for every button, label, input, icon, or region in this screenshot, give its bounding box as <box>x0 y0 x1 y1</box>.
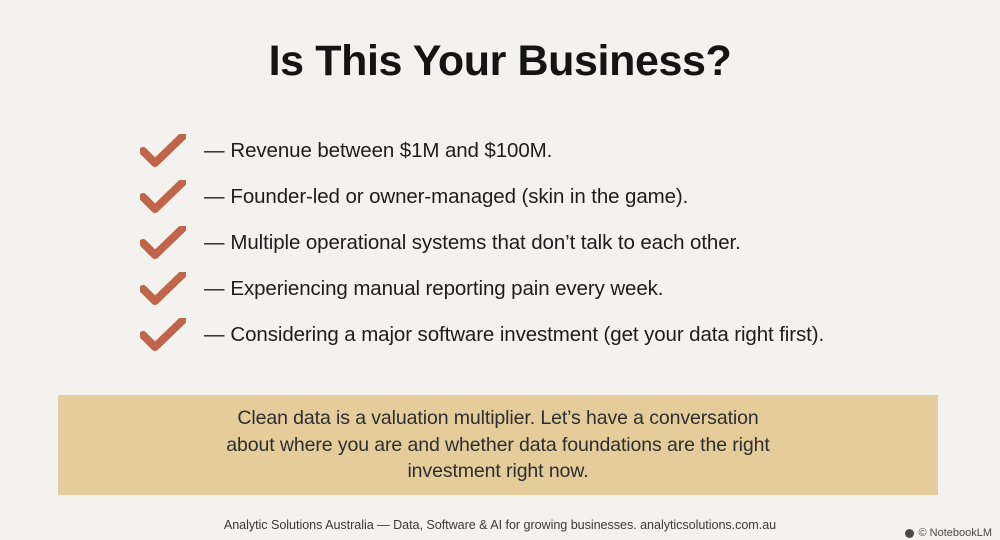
callout-line: investment right now. <box>407 460 588 482</box>
list-item-text: —Founder-led or owner-managed (skin in t… <box>204 185 688 209</box>
slide-canvas: Is This Your Business? —Revenue between … <box>0 0 1000 540</box>
list-item-label: Multiple operational systems that don’t … <box>230 231 740 254</box>
callout-line: Clean data is a valuation multiplier. Le… <box>237 407 758 429</box>
em-dash: — <box>204 277 224 300</box>
list-item-text: —Multiple operational systems that don’t… <box>204 231 741 255</box>
list-item-label: Experiencing manual reporting pain every… <box>230 277 663 300</box>
check-mark-icon <box>140 226 186 260</box>
check-mark-icon <box>140 134 186 168</box>
em-dash: — <box>204 231 224 254</box>
list-item: —Multiple operational systems that don’t… <box>140 220 960 266</box>
watermark-label: © NotebookLM <box>918 527 992 539</box>
check-mark-icon <box>140 272 186 306</box>
list-item-label: Founder-led or owner-managed (skin in th… <box>230 185 688 208</box>
em-dash: — <box>204 323 224 346</box>
list-item-text: —Revenue between $1M and $100M. <box>204 139 552 163</box>
watermark: © NotebookLM <box>905 527 992 539</box>
list-item: —Founder-led or owner-managed (skin in t… <box>140 174 960 220</box>
list-item-label: Considering a major software investment … <box>230 323 824 346</box>
footer-text: Analytic Solutions Australia — Data, Sof… <box>0 518 1000 532</box>
callout-band: Clean data is a valuation multiplier. Le… <box>58 395 938 495</box>
list-item-label: Revenue between $1M and $100M. <box>230 139 552 162</box>
list-item: —Experiencing manual reporting pain ever… <box>140 266 960 312</box>
checklist: —Revenue between $1M and $100M. —Founder… <box>140 128 960 358</box>
copyright-icon <box>905 529 914 538</box>
check-mark-icon <box>140 180 186 214</box>
callout-line: about where you are and whether data fou… <box>226 434 769 456</box>
list-item: —Revenue between $1M and $100M. <box>140 128 960 174</box>
check-mark-icon <box>140 318 186 352</box>
page-title: Is This Your Business? <box>0 38 1000 85</box>
list-item-text: —Experiencing manual reporting pain ever… <box>204 277 663 301</box>
em-dash: — <box>204 185 224 208</box>
list-item: —Considering a major software investment… <box>140 312 960 358</box>
em-dash: — <box>204 139 224 162</box>
callout-text: Clean data is a valuation multiplier. Le… <box>226 405 769 485</box>
list-item-text: —Considering a major software investment… <box>204 323 824 347</box>
